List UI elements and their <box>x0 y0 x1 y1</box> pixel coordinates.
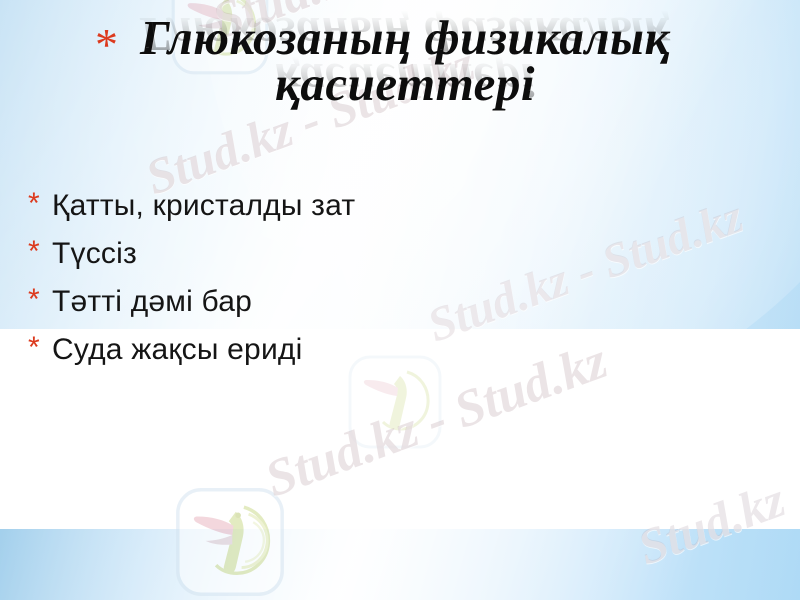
presentation-slide: Stud.kz Stud.kz - Stud.kz Stud.kz - Stud… <box>0 0 800 600</box>
bullet-list: * Қатты, кристалды зат * Түссіз * Тәтті … <box>28 186 728 378</box>
list-item-label: Тәтті дәмі бар <box>52 282 728 322</box>
bullet-asterisk-icon: * <box>28 330 52 366</box>
list-item-label: Қатты, кристалды зат <box>52 186 728 226</box>
list-item: * Суда жақсы ериді <box>28 330 728 378</box>
list-item-label: Суда жақсы ериді <box>52 330 728 370</box>
list-item: * Тәтті дәмі бар <box>28 282 728 330</box>
list-item: * Түссіз <box>28 234 728 282</box>
bullet-asterisk-icon: * <box>28 282 52 318</box>
list-item: * Қатты, кристалды зат <box>28 186 728 234</box>
slide-background-bottom-band <box>0 529 800 600</box>
title-line-1: Глюкозаның физикалық Глюкозаның физикалы… <box>60 14 750 62</box>
bullet-asterisk-icon: * <box>28 186 52 222</box>
list-item-label: Түссіз <box>52 234 728 274</box>
bullet-asterisk-icon: * <box>28 234 52 270</box>
slide-title: Глюкозаның физикалық Глюкозаның физикалы… <box>60 14 750 108</box>
title-line-2: қасиеттері қасиеттері <box>60 60 750 108</box>
title-line-2-text: қасиеттері <box>275 56 535 111</box>
